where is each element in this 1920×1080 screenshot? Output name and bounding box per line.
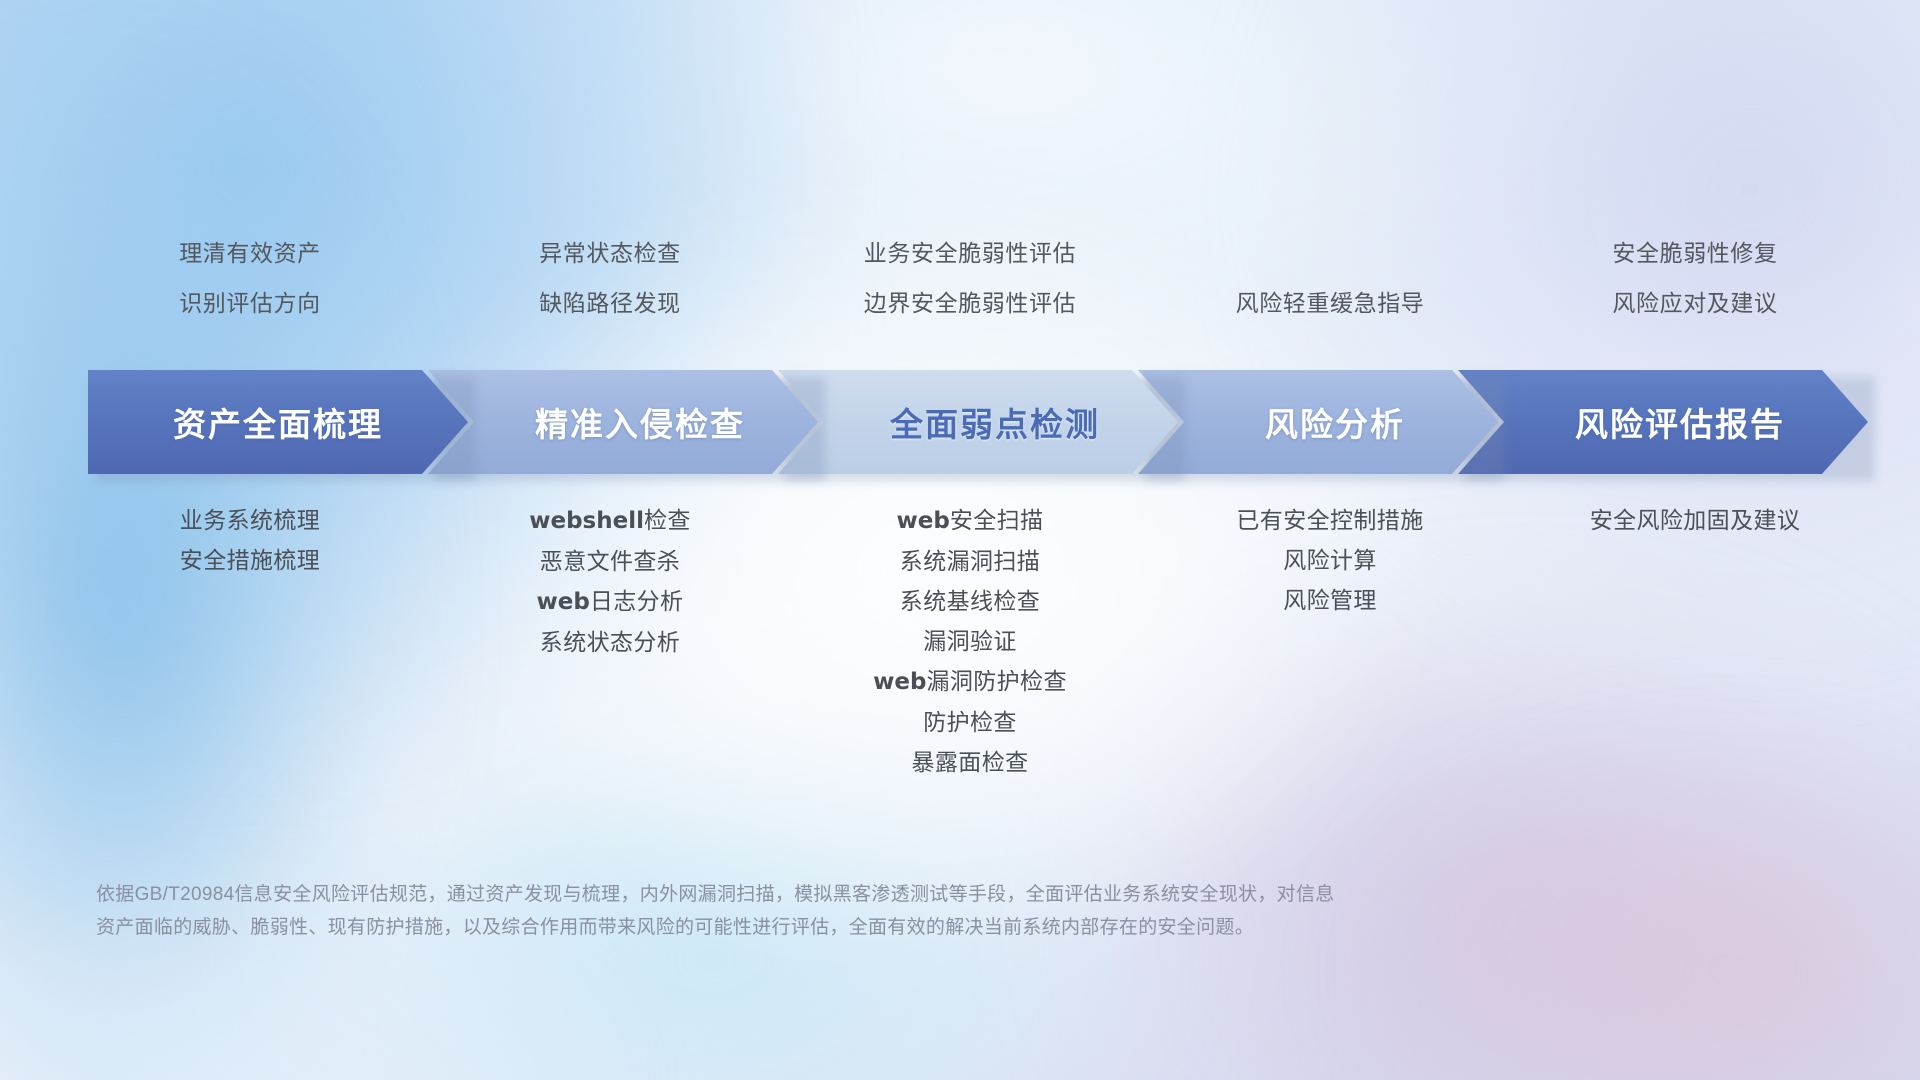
bottom-column-4: 已有安全控制措施风险计算风险管理 <box>1150 500 1510 620</box>
top-column-1: 理清有效资产 识别评估方向 <box>70 228 430 328</box>
top-column-3: 业务安全脆弱性评估 边界安全脆弱性评估 <box>790 228 1150 328</box>
top-column-5: 安全脆弱性修复 风险应对及建议 <box>1510 228 1880 328</box>
bottom-item-cn: 风险计算 <box>1283 547 1377 573</box>
top-item: 业务安全脆弱性评估 <box>864 228 1076 278</box>
bottom-item-cn: 暴露面检查 <box>912 749 1029 775</box>
bottom-items-row: 业务系统梳理安全措施梳理 webshell检查恶意文件查杀web日志分析系统状态… <box>0 500 1920 782</box>
top-column-2: 异常状态检查 缺陷路径发现 <box>430 228 790 328</box>
bottom-item: web日志分析 <box>537 581 684 622</box>
bottom-item: 安全风险加固及建议 <box>1590 500 1801 540</box>
bottom-item: 安全措施梳理 <box>180 540 320 580</box>
bottom-item-cn: 安全风险加固及建议 <box>1590 507 1801 533</box>
bottom-item-cn: 安全措施梳理 <box>180 547 320 573</box>
bottom-item: 系统漏洞扫描 <box>900 541 1040 581</box>
stage-title: 精准入侵检查 <box>501 398 745 446</box>
top-item: 识别评估方向 <box>179 278 321 328</box>
bottom-item-cn: 系统漏洞扫描 <box>900 548 1040 574</box>
bottom-item: 系统状态分析 <box>540 622 680 662</box>
top-item: 异常状态检查 <box>539 228 681 278</box>
bottom-item: 暴露面检查 <box>912 742 1029 782</box>
stage-chevron-asset-inventory[interactable]: 资产全面梳理 <box>88 370 468 474</box>
bottom-item-cn: 系统状态分析 <box>540 629 680 655</box>
bottom-column-2: webshell检查恶意文件查杀web日志分析系统状态分析 <box>430 500 790 662</box>
bottom-item-cn: 已有安全控制措施 <box>1236 507 1423 533</box>
top-item: 安全脆弱性修复 <box>1612 228 1777 278</box>
bottom-item: 漏洞验证 <box>923 621 1017 661</box>
top-item: 边界安全脆弱性评估 <box>864 278 1076 328</box>
stage-chevron-risk-analysis[interactable]: 风险分析 <box>1138 370 1498 474</box>
stage-title: 全面弱点检测 <box>856 398 1100 446</box>
bottom-item-cn: 漏洞验证 <box>923 628 1017 654</box>
top-item: 风险应对及建议 <box>1612 278 1777 328</box>
top-item: 理清有效资产 <box>179 228 321 278</box>
bottom-item: 业务系统梳理 <box>180 500 320 540</box>
bottom-item: web安全扫描 <box>897 500 1044 541</box>
bottom-item: 风险计算 <box>1283 540 1377 580</box>
bottom-item: 已有安全控制措施 <box>1236 500 1423 540</box>
footer-line: 依据GB/T20984信息安全风险评估规范，通过资产发现与梳理，内外网漏洞扫描，… <box>96 878 1656 911</box>
bottom-item-en: web <box>897 508 950 534</box>
bottom-item: web漏洞防护检查 <box>873 661 1067 702</box>
bottom-item-cn: 系统基线检查 <box>900 588 1040 614</box>
stage-title: 资产全面梳理 <box>173 398 383 446</box>
bottom-item-en: webshell <box>529 508 644 534</box>
bottom-item-cn: 业务系统梳理 <box>180 507 320 533</box>
top-column-4: 风险轻重缓急指导 <box>1150 228 1510 328</box>
bottom-item-en: web <box>537 589 590 615</box>
stage-chevron-risk-report[interactable]: 风险评估报告 <box>1458 370 1868 474</box>
bottom-column-5: 安全风险加固及建议 <box>1510 500 1880 540</box>
bottom-item-cn: 安全扫描 <box>950 507 1044 533</box>
top-item: 风险轻重缓急指导 <box>1236 278 1425 328</box>
process-chevron-bar: 资产全面梳理 精准入侵检查 全面弱点检测 风险分析 风险评估报告 <box>88 370 1868 474</box>
bottom-item: webshell检查 <box>529 500 691 541</box>
bottom-item-cn: 风险管理 <box>1283 587 1377 613</box>
bottom-item: 系统基线检查 <box>900 581 1040 621</box>
bottom-item-cn: 恶意文件查杀 <box>540 548 680 574</box>
bottom-item: 风险管理 <box>1283 580 1377 620</box>
bottom-item-cn: 日志分析 <box>590 588 684 614</box>
bottom-column-1: 业务系统梳理安全措施梳理 <box>70 500 430 580</box>
stage-title: 风险分析 <box>1231 398 1405 446</box>
stage-title: 风险评估报告 <box>1541 398 1785 446</box>
footer-line: 资产面临的威胁、脆弱性、现有防护措施，以及综合作用而带来风险的可能性进行评估，全… <box>96 911 1656 944</box>
top-item: 缺陷路径发现 <box>539 278 681 328</box>
bottom-item-en: web <box>873 669 926 695</box>
bottom-item-cn: 检查 <box>644 507 691 533</box>
stage-chevron-intrusion-check[interactable]: 精准入侵检查 <box>428 370 818 474</box>
bottom-item: 防护检查 <box>923 702 1017 742</box>
bottom-column-3: web安全扫描系统漏洞扫描系统基线检查漏洞验证web漏洞防护检查防护检查暴露面检… <box>790 500 1150 782</box>
stage-chevron-weakness-detection[interactable]: 全面弱点检测 <box>778 370 1178 474</box>
footer-description: 依据GB/T20984信息安全风险评估规范，通过资产发现与梳理，内外网漏洞扫描，… <box>96 878 1656 944</box>
bottom-item-cn: 防护检查 <box>923 709 1017 735</box>
bottom-item-cn: 漏洞防护检查 <box>926 668 1066 694</box>
top-descriptions-row: 理清有效资产 识别评估方向 异常状态检查 缺陷路径发现 业务安全脆弱性评估 边界… <box>0 228 1920 328</box>
bottom-item: 恶意文件查杀 <box>540 541 680 581</box>
